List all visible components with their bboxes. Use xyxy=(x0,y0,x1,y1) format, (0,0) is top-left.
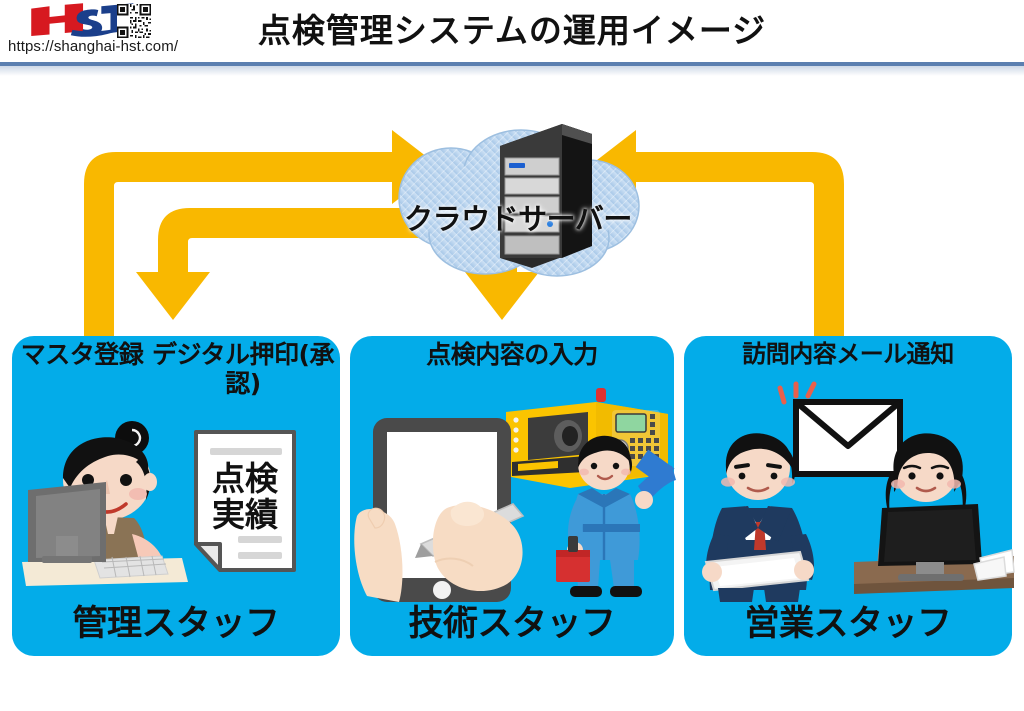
saleswoman-at-laptop-icon xyxy=(854,424,1014,600)
label-master-registration: マスタ登録 xyxy=(12,341,152,370)
label-admin-staff: 管理スタッフ xyxy=(12,604,340,644)
header-divider-shadow xyxy=(0,66,1024,76)
label-inspection-input: 点検内容の入力 xyxy=(350,341,674,370)
salesman-with-tablet-icon xyxy=(694,422,830,602)
slide-header: https://shanghai-hst.com/ 点検管理システムの運用イメー… xyxy=(0,0,1024,62)
label-visit-mail-notice: 訪問内容メール通知 xyxy=(684,341,1012,369)
cloud-label: クラウドサーバー xyxy=(393,196,643,238)
tablet-with-stylus-icon xyxy=(355,412,555,608)
label-digital-stamp: デジタル押印(承認) xyxy=(150,341,336,399)
label-sales-staff: 営業スタッフ xyxy=(684,604,1012,644)
arrow-cloud-to-admin xyxy=(136,208,430,320)
svg-text:実績: 実績 xyxy=(212,495,278,534)
svg-text:点検: 点検 xyxy=(212,459,279,498)
document-icon: 点検 実績 xyxy=(190,428,300,574)
woman-at-desktop-computer-icon xyxy=(22,412,188,588)
technician-in-blue-uniform-icon xyxy=(556,420,676,600)
slide-canvas: https://shanghai-hst.com/ 点検管理システムの運用イメー… xyxy=(0,0,1024,711)
label-tech-staff: 技術スタッフ xyxy=(350,604,674,644)
page-title: 点検管理システムの運用イメージ xyxy=(0,4,1024,52)
